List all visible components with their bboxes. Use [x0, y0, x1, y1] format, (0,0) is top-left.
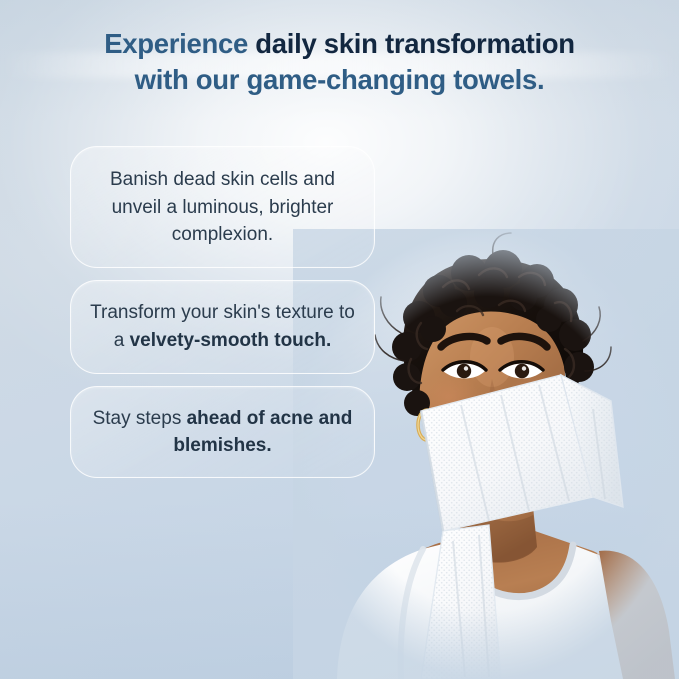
feature-card-list: Banish dead skin cells and unveil a lumi… [70, 146, 375, 478]
ad-creative: Experience daily skin transformation wit… [0, 0, 679, 679]
feature-card-text: Stay steps ahead of acne and blemishes. [93, 408, 353, 457]
feature-card-text: Banish dead skin cells and unveil a lumi… [110, 169, 335, 245]
feature-text-bold: velvety-smooth touch. [130, 330, 332, 351]
headline-line-1: Experience daily skin transformation [26, 26, 653, 62]
feature-text-bold: ahead of acne and blemishes. [173, 408, 352, 457]
feature-card-exfoliate: Banish dead skin cells and unveil a lumi… [70, 146, 375, 268]
feature-text-regular: Stay steps [93, 408, 187, 429]
headline-line-2: with our game-changing towels. [26, 62, 653, 98]
feature-card-texture: Transform your skin's texture to a velve… [70, 280, 375, 373]
feature-card-acne: Stay steps ahead of acne and blemishes. [70, 386, 375, 478]
feature-text-regular: Banish dead skin cells and unveil a lumi… [110, 169, 335, 245]
headline-strong-text: daily skin transformation [255, 28, 575, 59]
headline: Experience daily skin transformation wit… [0, 26, 679, 98]
headline-soft-text: Experience [104, 28, 255, 59]
feature-card-text: Transform your skin's texture to a velve… [90, 302, 355, 351]
